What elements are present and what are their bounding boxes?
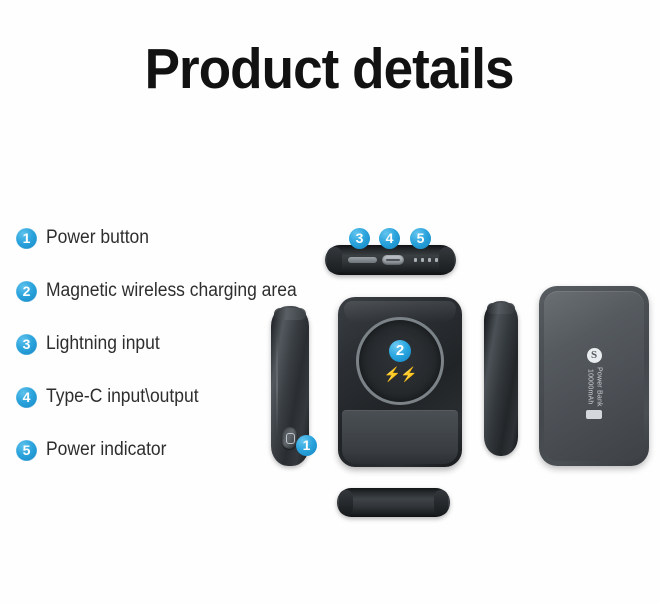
callout-badge-1: 1	[296, 435, 317, 456]
product-view-top-edge	[325, 245, 456, 275]
brand-name-text: Power Bank	[595, 367, 603, 407]
callout-badge-4: 4	[379, 228, 400, 249]
led-dot	[414, 258, 417, 262]
brand-logo-icon: S	[587, 348, 602, 363]
product-view-back: S 10000mAh Power Bank	[539, 286, 649, 466]
bottom-edge-cap-left	[339, 490, 353, 515]
power-button	[282, 427, 297, 449]
brand-cert-badge	[586, 410, 602, 419]
led-dot	[435, 258, 438, 262]
magnetic-charging-ring: 2 ⚡⚡	[356, 317, 444, 405]
power-button-glyph	[286, 433, 295, 444]
led-dot	[421, 258, 424, 262]
legend-label-1: Power button	[46, 227, 149, 249]
led-dot	[428, 258, 431, 262]
legend-label-3: Lightning input	[46, 333, 160, 355]
legend-badge-5: 5	[16, 440, 37, 461]
legend-label-5: Power indicator	[46, 439, 166, 461]
brand-text-stack: 10000mAh Power Bank	[567, 365, 621, 407]
callout-badge-2: 2	[389, 340, 411, 362]
bottom-edge-cap-right	[434, 490, 448, 515]
brand-capacity-text: 10000mAh	[586, 367, 594, 407]
legend-label-2: Magnetic wireless charging area	[46, 280, 297, 302]
legend-label-4: Type-C input\output	[46, 386, 199, 408]
lightning-port	[348, 257, 377, 263]
legend-badge-1: 1	[16, 228, 37, 249]
front-bottom-panel	[342, 410, 458, 464]
led-indicator-dots	[414, 258, 438, 262]
top-edge-cap-left	[327, 247, 342, 273]
side-right-top-cap	[487, 303, 515, 314]
legend-item-magnetic-charging: 2 Magnetic wireless charging area	[16, 279, 316, 303]
lightning-bolt-icon: ⚡⚡	[384, 367, 417, 381]
product-details-infographic: Product details 1 Power button 2 Magneti…	[0, 0, 660, 603]
side-left-seam	[276, 334, 278, 438]
callout-badge-3: 3	[349, 228, 370, 249]
type-c-port	[382, 255, 404, 265]
side-left-top-cap	[274, 308, 306, 320]
legend-item-power-button: 1 Power button	[16, 226, 316, 250]
product-view-front: 2 ⚡⚡	[338, 297, 462, 467]
legend-badge-2: 2	[16, 281, 37, 302]
top-edge-cap-right	[439, 247, 454, 273]
page-title: Product details	[22, 36, 636, 102]
callout-badge-5: 5	[410, 228, 431, 249]
product-view-side-right	[484, 301, 518, 456]
product-view-bottom-edge	[337, 488, 450, 517]
brand-mark: S 10000mAh Power Bank	[567, 348, 621, 419]
legend-badge-3: 3	[16, 334, 37, 355]
legend-badge-4: 4	[16, 387, 37, 408]
